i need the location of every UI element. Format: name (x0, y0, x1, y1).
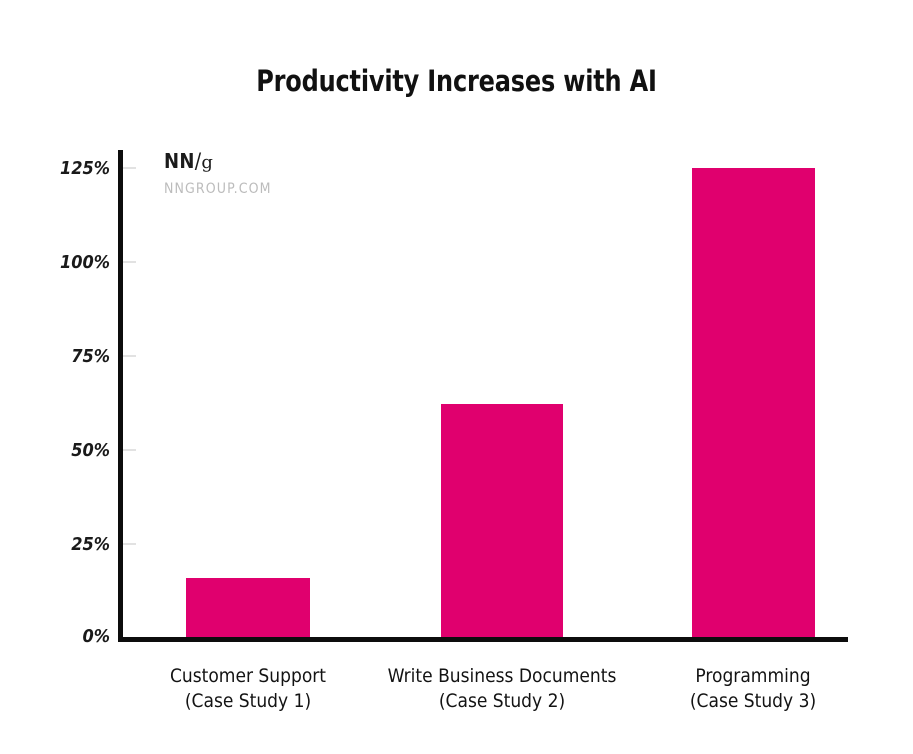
x-cat-label-line2: (Case Study 2) (372, 689, 632, 714)
bar-write-business-documents (441, 404, 563, 637)
x-cat-label-programming: Programming (Case Study 3) (633, 664, 873, 714)
y-tick-mark-125 (123, 167, 136, 169)
y-tick-label-50: 50% (10, 440, 110, 461)
y-tick-label-75: 75% (10, 346, 110, 367)
x-cat-label-write-business-documents: Write Business Documents (Case Study 2) (372, 664, 632, 714)
y-tick-label-100: 100% (10, 252, 110, 273)
x-cat-label-line2: (Case Study 3) (633, 689, 873, 714)
y-tick-mark-50 (123, 449, 136, 451)
chart-title: Productivity Increases with AI (37, 64, 877, 98)
nng-url: NNGROUP.COM (164, 181, 394, 197)
nng-logo-nn: NN (164, 149, 195, 173)
chart-figure: Productivity Increases with AI 125% 100%… (0, 0, 913, 754)
x-cat-label-line2: (Case Study 1) (128, 689, 368, 714)
y-tick-mark-75 (123, 355, 136, 357)
y-axis-line (118, 150, 123, 641)
y-tick-mark-100 (123, 261, 136, 263)
nng-logo: NN/g (164, 150, 394, 174)
bar-customer-support (186, 578, 310, 637)
y-tick-mark-25 (123, 543, 136, 545)
x-cat-label-customer-support: Customer Support (Case Study 1) (128, 664, 368, 714)
y-tick-label-0: 0% (10, 626, 110, 647)
x-axis-line (118, 637, 848, 642)
x-cat-label-line1: Write Business Documents (388, 665, 617, 687)
nng-watermark: NN/g NNGROUP.COM (164, 150, 394, 197)
nng-logo-g: g (201, 152, 213, 173)
y-tick-label-125: 125% (10, 158, 110, 179)
x-cat-label-line1: Customer Support (170, 665, 326, 687)
y-tick-label-25: 25% (10, 534, 110, 555)
x-cat-label-line1: Programming (695, 665, 810, 687)
bar-programming (692, 168, 815, 637)
